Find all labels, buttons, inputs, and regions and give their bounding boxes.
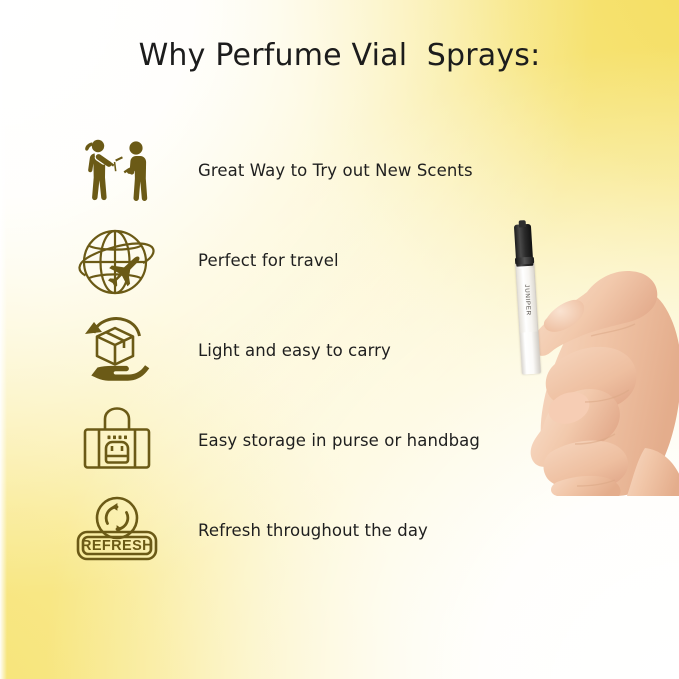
benefit-row-refresh-all-day: REFRESH Refresh throughout the day — [62, 486, 532, 576]
refresh-badge-text: REFRESH — [81, 538, 153, 554]
globe-airplane-icon — [62, 220, 172, 302]
benefit-label: Great Way to Try out New Scents — [172, 161, 473, 181]
refresh-badge-icon: REFRESH — [62, 490, 172, 572]
benefit-row-try-new-scents: Great Way to Try out New Scents — [62, 126, 532, 216]
background-left-edge-highlight — [0, 0, 7, 679]
benefit-label: Easy storage in purse or handbag — [172, 431, 480, 451]
handbag-icon — [62, 400, 172, 482]
vial-spray-cap — [514, 224, 534, 267]
benefits-list: Great Way to Try out New Scents — [62, 126, 532, 576]
vial-brand-text: JUNIPER — [523, 284, 532, 316]
benefit-row-perfect-for-travel: Perfect for travel — [62, 216, 532, 306]
vial-nozzle — [519, 220, 526, 227]
benefit-label: Refresh throughout the day — [172, 521, 428, 541]
box-on-hand-icon — [62, 310, 172, 392]
infographic-canvas: Why Perfume Vial Sprays: — [0, 0, 679, 679]
benefit-row-easy-storage: Easy storage in purse or handbag — [62, 396, 532, 486]
benefit-label: Light and easy to carry — [172, 341, 391, 361]
benefit-row-light-easy-carry: Light and easy to carry — [62, 306, 532, 396]
hand-holding-perfume-vial: JUNIPER — [495, 196, 679, 496]
benefit-label: Perfect for travel — [172, 251, 339, 271]
two-people-sampling-perfume-icon — [62, 130, 172, 212]
page-title: Why Perfume Vial Sprays: — [0, 38, 679, 73]
